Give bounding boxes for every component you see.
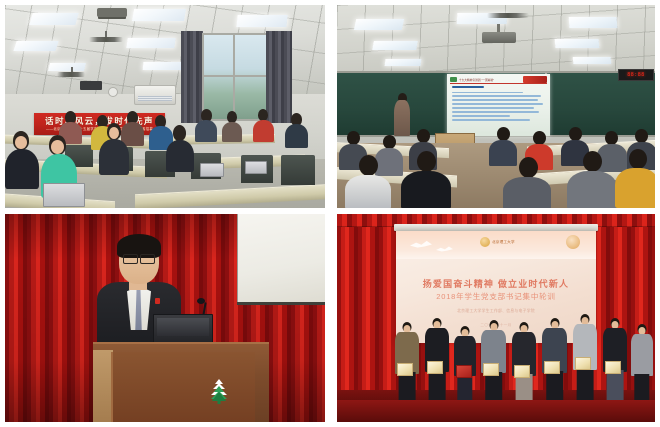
ceiling-fan-icon (89, 37, 123, 42)
slide-text-line (452, 92, 523, 94)
ceiling-light-icon (132, 9, 186, 21)
student-head (359, 155, 378, 176)
window (202, 33, 268, 121)
ceiling-light-icon (573, 57, 612, 64)
person-1 (395, 322, 419, 400)
person-4 (481, 320, 506, 400)
slide-text-line (452, 119, 530, 121)
slide-logo-icon (450, 77, 457, 82)
ceiling-light-icon (48, 63, 86, 71)
ceiling-fan-icon (487, 13, 529, 18)
person-8 (603, 318, 627, 400)
student (166, 140, 194, 172)
certificate (575, 357, 591, 370)
ceiling-light-icon (372, 41, 418, 50)
lapel-pin-icon (155, 298, 160, 304)
window-mullion (233, 35, 235, 119)
projector-icon (482, 32, 516, 43)
ceiling-light-icon (385, 59, 422, 66)
student (401, 171, 451, 208)
person-3 (454, 326, 476, 400)
student (195, 120, 217, 142)
slide-body (452, 86, 545, 132)
window-curtain (266, 31, 292, 123)
person-legs (485, 372, 503, 400)
student-head (605, 131, 618, 145)
certificate (427, 361, 443, 374)
slide-text-line (452, 86, 484, 88)
microphone-icon (197, 298, 205, 304)
person-9 (631, 324, 653, 400)
university-mark-icon (480, 237, 490, 247)
student-face (109, 127, 119, 139)
led-clock-text: 88:88 (627, 72, 645, 78)
slide-header: 十九大精神宣讲团 "一国两制" (450, 76, 547, 84)
student (345, 175, 391, 208)
laptop (200, 163, 224, 177)
slide-title-sub: 2018年学生党支部书记集中轮训 (396, 291, 596, 302)
presenter-body (394, 100, 410, 136)
student (375, 148, 403, 176)
slide-text-line (452, 95, 541, 97)
laptop (245, 161, 267, 174)
ceiling-light-icon (236, 15, 287, 27)
ceiling-light-icon (29, 13, 78, 25)
slide-text-line (452, 115, 510, 117)
slide-text-line (452, 107, 534, 109)
award-group-photo[interactable]: 北京理工大学 扬爱国奋斗精神 做立业时代新人 2018年学生党支部书记集中轮训 … (337, 214, 655, 422)
projection-screen (237, 214, 325, 305)
podium-front-panel (111, 352, 255, 422)
person-legs (399, 372, 416, 400)
slide-text-line (452, 111, 539, 113)
podium-speaker-photo[interactable] (5, 214, 325, 422)
person-legs (634, 374, 649, 400)
podium (93, 342, 269, 422)
ceiling-light-icon (143, 62, 184, 70)
student (615, 168, 655, 208)
led-clock-display: 88:88 (618, 69, 654, 81)
slide-text-line (452, 103, 543, 105)
ceiling-light-icon (354, 19, 404, 30)
slide-org-line: 北京理工大学学生工作部、信息与电子学院 (396, 309, 596, 314)
certificate (544, 361, 560, 374)
laptop (43, 183, 85, 207)
student (489, 140, 517, 166)
certificate (397, 363, 413, 376)
wall-speaker-icon (80, 81, 102, 90)
lecture-hall-photo[interactable]: 十九大精神宣讲团 "一国两制" 88:88 (337, 5, 655, 208)
laptop (153, 314, 213, 344)
projection-screen: 十九大精神宣讲团 "一国两制" (447, 74, 550, 136)
glasses-icon (123, 254, 155, 262)
ceiling-light-icon (569, 17, 618, 28)
student-head (173, 125, 186, 141)
person-torso (631, 334, 653, 376)
certificate (483, 363, 499, 376)
university-name: 北京理工大学 (492, 240, 515, 245)
person-2 (425, 318, 449, 400)
laptop-screen (157, 318, 209, 336)
student-head (583, 151, 602, 172)
student (222, 122, 242, 142)
student-head (383, 135, 396, 149)
student-head (635, 129, 648, 143)
slide-text-line (452, 99, 538, 101)
ceiling-light-icon (555, 39, 600, 48)
student-head (569, 127, 582, 141)
student-head (519, 157, 538, 178)
certificate (605, 361, 621, 374)
person-6 (542, 318, 567, 400)
student-face (15, 136, 27, 149)
projection-screen-bar (394, 224, 598, 231)
pine-tree-emblem-icon (207, 378, 231, 406)
student (285, 124, 308, 148)
student-head (629, 149, 647, 169)
person-legs (607, 370, 624, 400)
certificate (456, 365, 472, 378)
student-head (417, 151, 436, 172)
photo-collage: 话时事风云，发时代先声 ——北京理工大学第十五届学生时事论坛暨学生理页第七记者招… (0, 0, 660, 427)
student-head (533, 131, 546, 145)
window-curtain (181, 31, 203, 123)
student (253, 120, 274, 142)
student-head (497, 127, 510, 141)
student-head (347, 131, 360, 145)
projector-icon (97, 8, 127, 17)
person-legs (429, 370, 446, 400)
classroom-discussion-photo[interactable]: 话时事风云，发时代先声 ——北京理工大学第十五届学生时事论坛暨学生理页第七记者招… (5, 5, 325, 208)
student (567, 171, 617, 208)
slide-header-badge (523, 76, 547, 83)
student (5, 149, 39, 189)
security-camera-icon (108, 87, 118, 97)
student (503, 177, 551, 208)
slide-title-main: 扬爱国奋斗精神 做立业时代新人 (396, 277, 596, 290)
podium-side-panel (93, 350, 113, 422)
window-mullion (204, 75, 266, 77)
stage-front (337, 400, 655, 422)
student-face (51, 140, 64, 154)
projection-screen-bar (237, 302, 325, 305)
ceiling-fan-icon (57, 72, 85, 77)
ceiling-light-icon (13, 41, 58, 51)
person-legs (546, 371, 564, 400)
chair (281, 155, 315, 185)
student-head (417, 129, 430, 143)
ceiling-light-icon (126, 38, 175, 48)
slide-header-title: 十九大精神宣讲团 "一国两制" (459, 78, 494, 82)
party-emblem-icon (566, 235, 580, 249)
person-5 (512, 322, 536, 400)
university-logo: 北京理工大学 (480, 236, 530, 248)
student (99, 139, 129, 175)
person-legs (577, 370, 594, 400)
certificate (514, 365, 530, 378)
air-conditioner-icon (134, 85, 176, 105)
